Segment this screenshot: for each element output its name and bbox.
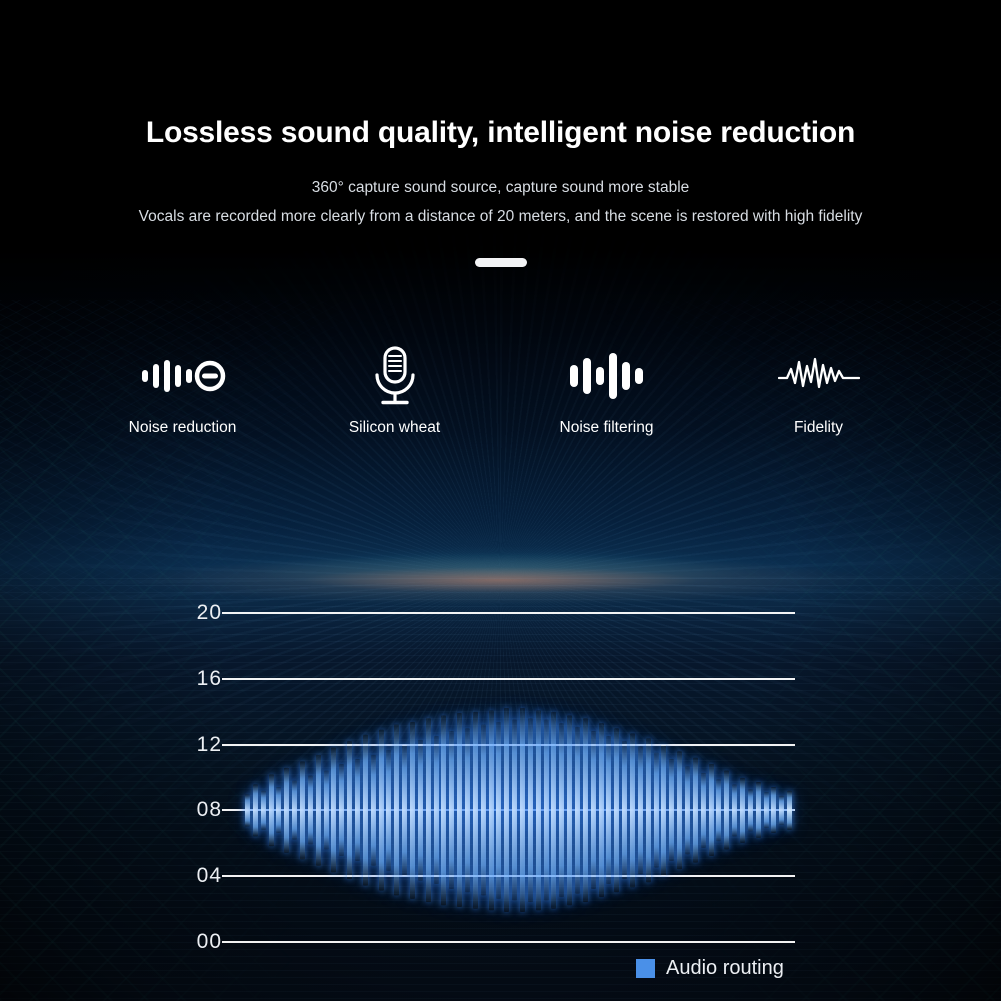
waveform-bar — [355, 759, 360, 861]
gridline — [222, 941, 795, 943]
waveform-bar — [316, 754, 321, 866]
waveform-bar — [347, 741, 352, 879]
waveform-bar — [677, 751, 682, 869]
waveform-bar — [622, 741, 627, 879]
legend-color-swatch — [636, 959, 655, 978]
waveform-bar — [599, 723, 604, 897]
waveform-bar — [489, 710, 494, 911]
y-axis-tick-label: 12 — [162, 733, 222, 757]
waveform-bar — [779, 796, 784, 826]
waveform-bar — [771, 787, 776, 833]
waveform-bar — [567, 715, 572, 906]
waveform-bar — [394, 725, 399, 896]
waveform-bar — [465, 728, 470, 893]
waveform-bar — [520, 708, 525, 912]
waveform-bar — [292, 781, 297, 840]
waveform-bar — [324, 771, 329, 850]
waveform-bar — [756, 782, 761, 838]
waveform-bar — [371, 754, 376, 866]
waveform-bar — [732, 784, 737, 837]
y-axis-tick-label: 04 — [162, 864, 222, 888]
waveform-bar — [748, 789, 753, 832]
waveform-bar — [654, 753, 659, 868]
waveform-bar — [583, 718, 588, 902]
waveform-bar — [638, 746, 643, 874]
waveform-bar — [551, 712, 556, 909]
waveform-bar — [496, 722, 501, 900]
waveform-bar — [544, 720, 549, 901]
gridline — [222, 678, 795, 680]
waveform-bar — [669, 759, 674, 861]
y-axis-tick-label: 16 — [162, 667, 222, 691]
waveform-bar — [709, 764, 714, 856]
gridline — [222, 612, 795, 614]
waveform-bar — [245, 794, 250, 827]
waveform-bar — [559, 723, 564, 897]
y-axis-tick-label: 00 — [162, 930, 222, 954]
waveform-bar — [449, 731, 454, 889]
waveform-bar — [606, 736, 611, 884]
waveform-bar — [441, 715, 446, 906]
waveform-bar — [386, 750, 391, 872]
waveform-bar — [740, 777, 745, 843]
waveform-bar — [473, 712, 478, 909]
waveform-bar — [418, 740, 423, 881]
waveform-bar — [630, 733, 635, 888]
waveform-bar — [661, 745, 666, 877]
waveform-bar — [426, 718, 431, 902]
waveform-bar — [591, 731, 596, 889]
waveform-bar — [481, 725, 486, 896]
waveform-bar — [379, 730, 384, 891]
legend-label: Audio routing — [666, 957, 784, 980]
waveform-bar — [614, 728, 619, 893]
waveform-bar — [363, 735, 368, 886]
waveform-bar — [646, 738, 651, 883]
waveform-bar — [701, 773, 706, 849]
chart-legend: Audio routing — [636, 957, 784, 980]
waveform-bar — [575, 727, 580, 895]
waveform-bar — [787, 791, 792, 830]
waveform-bar — [528, 718, 533, 902]
waveform-bar — [410, 722, 415, 900]
waveform-bar — [276, 787, 281, 833]
waveform-bar — [269, 774, 274, 846]
waveform-bar — [504, 708, 509, 912]
waveform-bar — [308, 776, 313, 845]
audio-routing-chart: 000408121620 Audio routing — [0, 0, 1001, 1001]
waveform-bar — [764, 792, 769, 828]
waveform-bar — [685, 766, 690, 855]
waveform-bar — [253, 784, 258, 837]
waveform-bar — [693, 758, 698, 863]
waveform-bar — [716, 779, 721, 842]
waveform-bar — [536, 710, 541, 911]
waveform-bar — [724, 771, 729, 850]
waveform-bar — [457, 713, 462, 907]
y-axis-tick-label: 20 — [162, 601, 222, 625]
waveform-bar — [284, 768, 289, 854]
waveform-bar — [512, 720, 517, 901]
waveform-bar — [331, 748, 336, 873]
y-axis-tick-label: 08 — [162, 798, 222, 822]
waveform-bar — [261, 791, 266, 830]
waveform-bar — [339, 764, 344, 856]
waveform-bar — [402, 745, 407, 877]
waveform-bar — [434, 736, 439, 884]
waveform-bar — [300, 761, 305, 860]
promo-banner: Lossless sound quality, intelligent nois… — [0, 0, 1001, 1001]
